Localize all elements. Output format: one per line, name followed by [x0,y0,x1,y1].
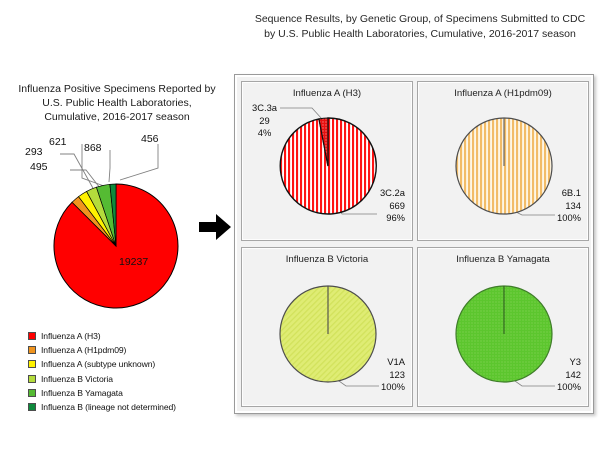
overview-label-subtype-unknown: 495 [30,161,48,173]
pie-slices [456,118,552,214]
annotation-y3-percent: 100% [557,381,581,394]
influenza-positive-title-line3: Cumulative, 2016-2017 season [8,110,226,124]
annotation-3c3a-name: 3C.3a [252,102,277,115]
right-arrow-icon [198,212,232,247]
legend: Influenza A (H3) Influenza A (H1pdm09) I… [28,329,176,414]
legend-item-label: Influenza A (H1pdm09) [41,345,126,355]
legend-swatch-icon [28,375,36,383]
panel-influenza-a-h3: Influenza A (H3) [241,81,413,241]
sequence-results-title-line2: by U.S. Public Health Laboratories, Cumu… [248,27,592,42]
panel-influenza-b-yamagata: Influenza B Yamagata Y3 142 [417,247,589,407]
annotation-6b1-name: 6B.1 [557,187,581,200]
legend-swatch-icon [28,389,36,397]
annotation-v1a-name: V1A [381,356,405,369]
annotation-6b1: 6B.1 134 100% [557,187,581,225]
overview-label-b-yamagata: 868 [84,142,102,154]
legend-item-influenza-a-h1pdm09: Influenza A (H1pdm09) [28,343,176,357]
legend-swatch-icon [28,403,36,411]
legend-swatch-icon [28,360,36,368]
overview-pie-slices [54,184,178,308]
overview-label-h1pdm09: 293 [25,146,43,158]
overview-label-b-victoria: 621 [49,136,67,148]
leader-lines [60,144,158,190]
legend-item-label: Influenza B (lineage not determined) [41,402,176,412]
sequence-results-panel-group: Influenza A (H3) [234,74,594,414]
legend-swatch-icon [28,332,36,340]
panel-influenza-a-h1pdm09: Influenza A (H1pdm09) 6B.1 1 [417,81,589,241]
annotation-3c3a: 3C.3a 29 4% [252,102,277,140]
legend-item-label: Influenza B Yamagata [41,388,123,398]
influenza-positive-title-line2: U.S. Public Health Laboratories, [8,96,226,110]
annotation-y3-count: 142 [557,369,581,382]
sequence-results-title: Sequence Results, by Genetic Group, of S… [248,12,592,42]
overview-label-b-lineage-nd: 456 [141,133,159,145]
legend-item-influenza-a-h3: Influenza A (H3) [28,329,176,343]
annotation-v1a-percent: 100% [381,381,405,394]
influenza-positive-title-line1: Influenza Positive Specimens Reported by [8,82,226,96]
annotation-v1a-count: 123 [381,369,405,382]
legend-item-label: Influenza B Victoria [41,374,113,384]
legend-swatch-icon [28,346,36,354]
overview-label-h3: 19237 [119,256,148,268]
annotation-v1a: V1A 123 100% [381,356,405,394]
panel-influenza-b-victoria: Influenza B Victoria V1A 123 [241,247,413,407]
annotation-3c2a-count: 669 [380,200,405,213]
annotation-y3: Y3 142 100% [557,356,581,394]
legend-item-label: Influenza A (H3) [41,331,101,341]
annotation-6b1-count: 134 [557,200,581,213]
annotation-3c2a: 3C.2a 669 96% [380,187,405,225]
annotation-y3-name: Y3 [557,356,581,369]
sequence-results-title-line1: Sequence Results, by Genetic Group, of S… [248,12,592,27]
annotation-3c2a-percent: 96% [380,212,405,225]
annotation-6b1-percent: 100% [557,212,581,225]
annotation-3c3a-percent: 4% [252,127,277,140]
legend-item-influenza-b-lineage-not-determined: Influenza B (lineage not determined) [28,400,176,414]
pie-slices [456,286,552,382]
legend-item-label: Influenza A (subtype unknown) [41,359,155,369]
annotation-3c3a-count: 29 [252,115,277,128]
legend-item-influenza-b-victoria: Influenza B Victoria [28,372,176,386]
pie-slices [280,118,376,214]
annotation-3c2a-name: 3C.2a [380,187,405,200]
pie-slices [280,286,376,382]
chart-figure: Sequence Results, by Genetic Group, of S… [0,0,600,450]
legend-item-influenza-b-yamagata: Influenza B Yamagata [28,386,176,400]
influenza-positive-title: Influenza Positive Specimens Reported by… [8,82,226,124]
legend-item-influenza-a-subtype-unknown: Influenza A (subtype unknown) [28,357,176,371]
